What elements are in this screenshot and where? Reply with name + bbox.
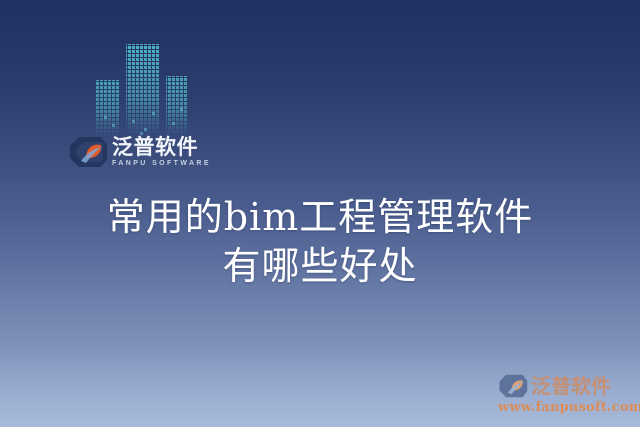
page-title: 常用的bim工程管理软件 有哪些好处	[0, 193, 640, 291]
fanpu-watermark-logo-icon	[498, 374, 528, 398]
brand-name-cn: 泛普软件	[112, 136, 211, 159]
promo-banner: 泛普软件 FANPU SOFTWARE 常用的bim工程管理软件 有哪些好处 泛…	[0, 0, 640, 427]
watermark-brand: 泛普软件	[498, 372, 640, 399]
watermark-url: www.fanpusoft.com	[498, 400, 640, 415]
watermark-brand-name: 泛普软件	[531, 374, 611, 398]
page-title-line-1: 常用的bim工程管理软件	[0, 193, 640, 242]
pixel-city-skyline-icon	[96, 42, 188, 136]
brand-logo: 泛普软件 FANPU SOFTWARE	[68, 133, 211, 171]
page-title-line-2: 有哪些好处	[0, 242, 640, 291]
fanpu-logo-icon	[68, 136, 108, 168]
watermark: 泛普软件 www.fanpusoft.com	[498, 372, 640, 415]
brand-logo-wordmark: 泛普软件 FANPU SOFTWARE	[112, 136, 211, 168]
brand-name-en: FANPU SOFTWARE	[112, 159, 211, 168]
